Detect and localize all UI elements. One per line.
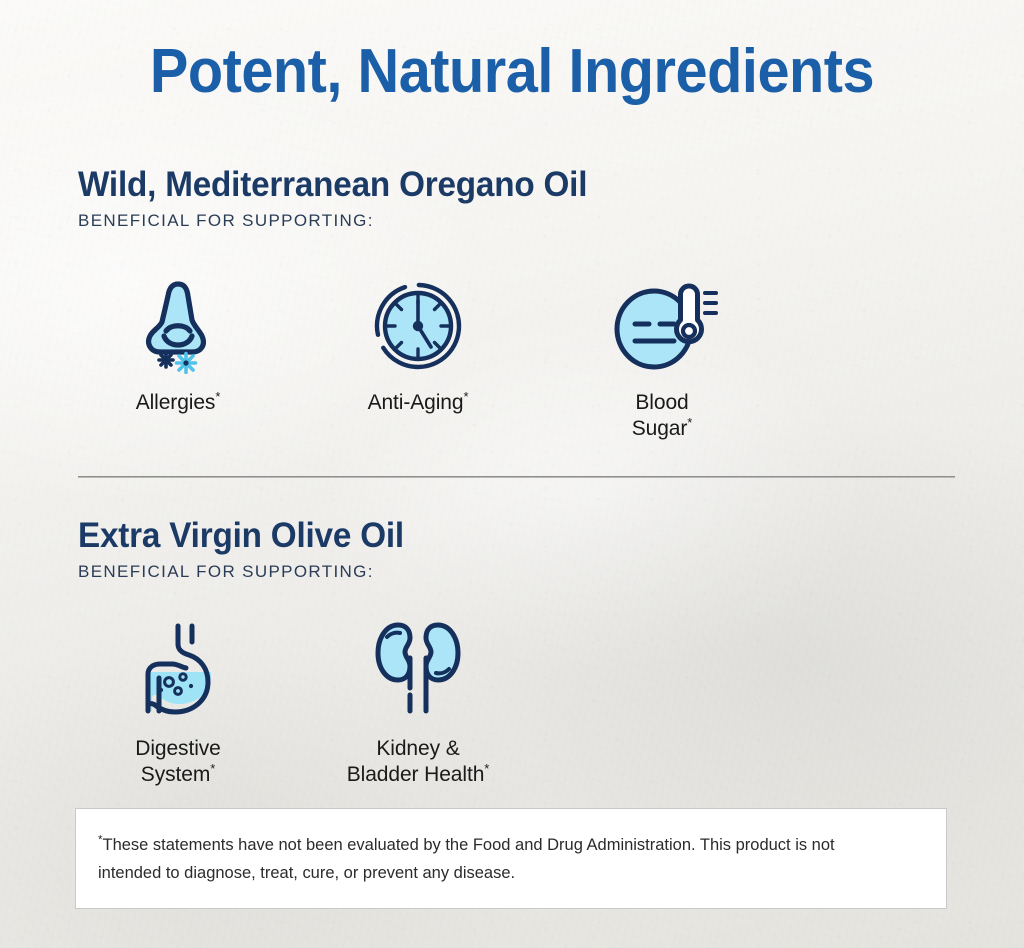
section-subheading: BENEFICIAL FOR SUPPORTING: [78,211,614,231]
benefit-label: Digestive System* [83,736,273,787]
benefit-label: Anti-Aging* [323,390,513,416]
benefit-anti-aging: Anti-Aging* [323,268,513,416]
kidneys-icon [323,614,513,720]
section-subheading: BENEFICIAL FOR SUPPORTING: [78,562,421,582]
section-olive-oil: Extra Virgin Olive Oil BENEFICIAL FOR SU… [78,516,421,582]
benefit-label: Blood Sugar* [567,390,757,441]
disclaimer-text: *These statements have not been evaluate… [98,831,897,886]
ingredients-infographic: Potent, Natural Ingredients Wild, Medite… [0,0,1024,948]
section-heading: Wild, Mediterranean Oregano Oil [78,165,587,205]
benefit-blood-sugar: Blood Sugar* [567,268,757,441]
clock-icon [323,268,513,374]
benefit-label: Allergies* [83,390,273,416]
stomach-icon [83,614,273,720]
section-divider [78,476,955,478]
section-oregano-oil: Wild, Mediterranean Oregano Oil BENEFICI… [78,165,614,231]
benefit-kidney-bladder: Kidney & Bladder Health* [323,614,513,787]
page-title: Potent, Natural Ingredients [36,36,988,107]
benefit-allergies: Allergies* [83,268,273,416]
face-thermometer-icon [567,268,757,374]
nose-allergy-icon [83,268,273,374]
disclaimer-box: *These statements have not been evaluate… [75,808,947,909]
benefit-label: Kidney & Bladder Health* [323,736,513,787]
benefit-digestive-system: Digestive System* [83,614,273,787]
section-heading: Extra Virgin Olive Oil [78,516,404,556]
